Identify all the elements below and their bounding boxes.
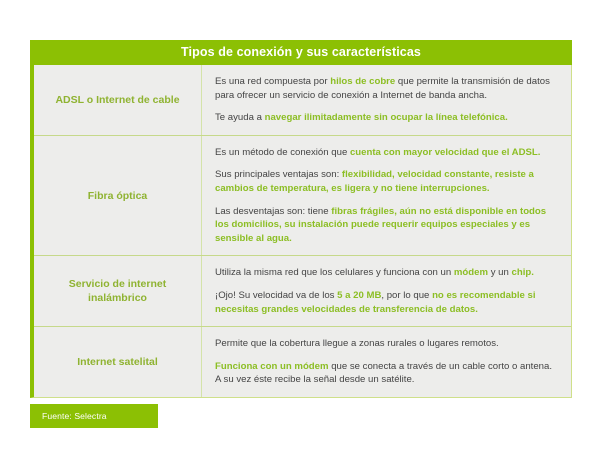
table-row: Servicio de internet inalámbricoUtiliza … bbox=[34, 256, 571, 327]
connection-types-table: Tipos de conexión y sus características … bbox=[30, 40, 572, 398]
highlighted-text: cuenta con mayor velocidad que el ADSL. bbox=[350, 147, 541, 158]
source-footer-bar: Fuente: Selectra bbox=[30, 404, 158, 428]
description-paragraph: Las desventajas son: tiene fibras frágil… bbox=[215, 205, 559, 246]
row-description: Utiliza la misma red que los celulares y… bbox=[202, 256, 571, 326]
highlighted-text: módem bbox=[454, 267, 488, 278]
plain-text: Sus principales ventajas son: bbox=[215, 169, 342, 180]
table-row: ADSL o Internet de cableEs una red compu… bbox=[34, 65, 571, 136]
plain-text: y un bbox=[488, 267, 511, 278]
table-row: Fibra ópticaEs un método de conexión que… bbox=[34, 136, 571, 257]
highlighted-text: navegar ilimitadamente sin ocupar la lín… bbox=[265, 112, 508, 123]
plain-text: Utiliza la misma red que los celulares y… bbox=[215, 267, 454, 278]
plain-text: , por lo que bbox=[381, 290, 432, 301]
highlighted-text: hilos de cobre bbox=[330, 76, 395, 87]
highlighted-text: chip. bbox=[512, 267, 534, 278]
description-paragraph: Te ayuda a navegar ilimitadamente sin oc… bbox=[215, 111, 559, 125]
table-body: ADSL o Internet de cableEs una red compu… bbox=[30, 65, 572, 398]
plain-text: Es una red compuesta por bbox=[215, 76, 330, 87]
infographic-page: Tipos de conexión y sus características … bbox=[0, 0, 600, 450]
description-paragraph: Permite que la cobertura llegue a zonas … bbox=[215, 337, 559, 351]
description-paragraph: Sus principales ventajas son: flexibilid… bbox=[215, 168, 559, 195]
highlighted-text: Funciona con un módem bbox=[215, 361, 329, 372]
row-description: Es un método de conexión que cuenta con … bbox=[202, 136, 571, 256]
plain-text: Te ayuda a bbox=[215, 112, 265, 123]
plain-text: Es un método de conexión que bbox=[215, 147, 350, 158]
row-description: Permite que la cobertura llegue a zonas … bbox=[202, 327, 571, 397]
source-footer-label: Fuente: Selectra bbox=[30, 411, 107, 421]
table-title: Tipos de conexión y sus características bbox=[30, 40, 572, 65]
plain-text: ¡Ojo! Su velocidad va de los bbox=[215, 290, 337, 301]
row-description: Es una red compuesta por hilos de cobre … bbox=[202, 65, 571, 135]
row-label: Fibra óptica bbox=[34, 136, 202, 256]
row-label: Servicio de internet inalámbrico bbox=[34, 256, 202, 326]
table-row: Internet satelitalPermite que la cobertu… bbox=[34, 327, 571, 397]
description-paragraph: Es un método de conexión que cuenta con … bbox=[215, 146, 559, 160]
description-paragraph: Funciona con un módem que se conecta a t… bbox=[215, 360, 559, 387]
description-paragraph: ¡Ojo! Su velocidad va de los 5 a 20 MB, … bbox=[215, 289, 559, 316]
plain-text: Las desventajas son: tiene bbox=[215, 206, 331, 217]
description-paragraph: Es una red compuesta por hilos de cobre … bbox=[215, 75, 559, 102]
plain-text: Permite que la cobertura llegue a zonas … bbox=[215, 338, 499, 349]
description-paragraph: Utiliza la misma red que los celulares y… bbox=[215, 266, 559, 280]
row-label: ADSL o Internet de cable bbox=[34, 65, 202, 135]
row-label: Internet satelital bbox=[34, 327, 202, 397]
highlighted-text: 5 a 20 MB bbox=[337, 290, 381, 301]
